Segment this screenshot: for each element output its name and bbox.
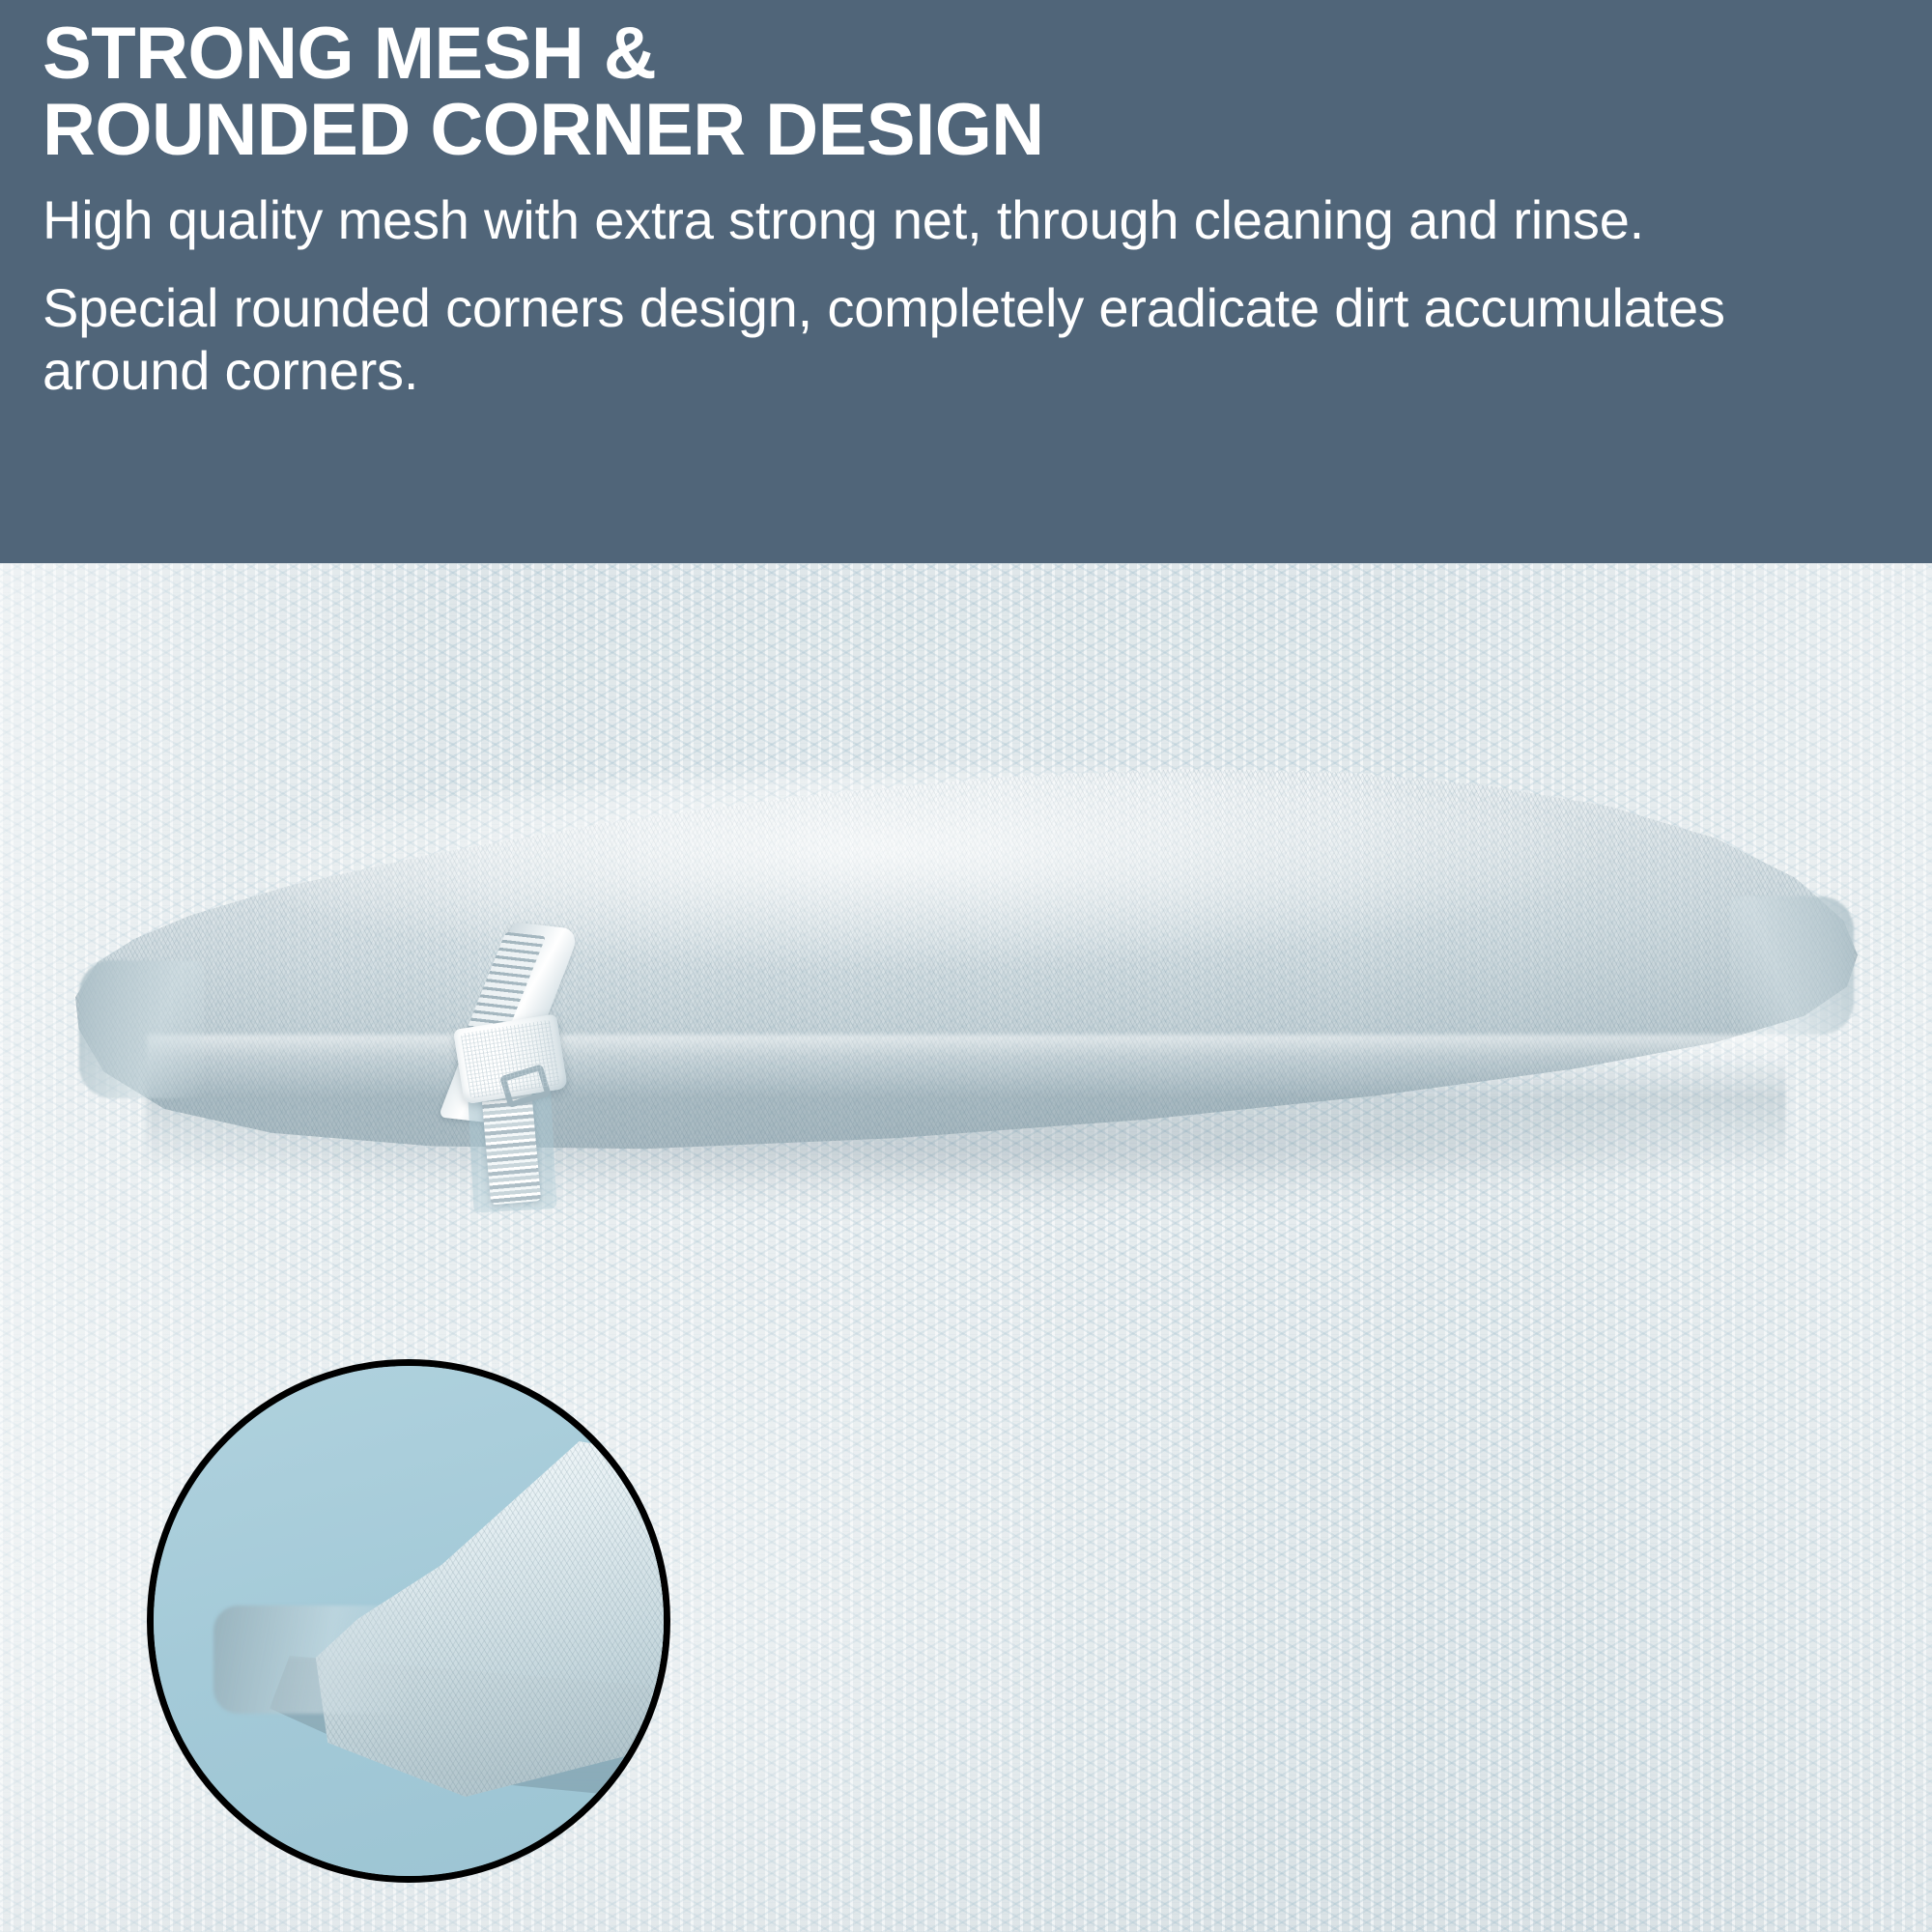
zipper-closure — [446, 925, 662, 1178]
bag-rounded-corner-left — [79, 960, 204, 1098]
header-banner: STRONG MESH & ROUNDED CORNER DESIGN High… — [0, 0, 1932, 563]
product-feature-poster: STRONG MESH & ROUNDED CORNER DESIGN High… — [0, 0, 1932, 1932]
inset-rounded-edge — [213, 1605, 416, 1714]
mesh-laundry-bag — [75, 737, 1858, 1268]
feature-paragraph-corners: Special rounded corners design, complete… — [43, 277, 1889, 403]
zipper-slider — [453, 1013, 568, 1104]
product-photo — [0, 563, 1932, 1932]
feature-paragraph-mesh: High quality mesh with extra strong net,… — [43, 189, 1889, 252]
bag-rounded-corner-right — [1729, 896, 1854, 1035]
rounded-corner-detail-inset — [147, 1359, 670, 1883]
page-title: STRONG MESH & ROUNDED CORNER DESIGN — [43, 15, 1889, 168]
